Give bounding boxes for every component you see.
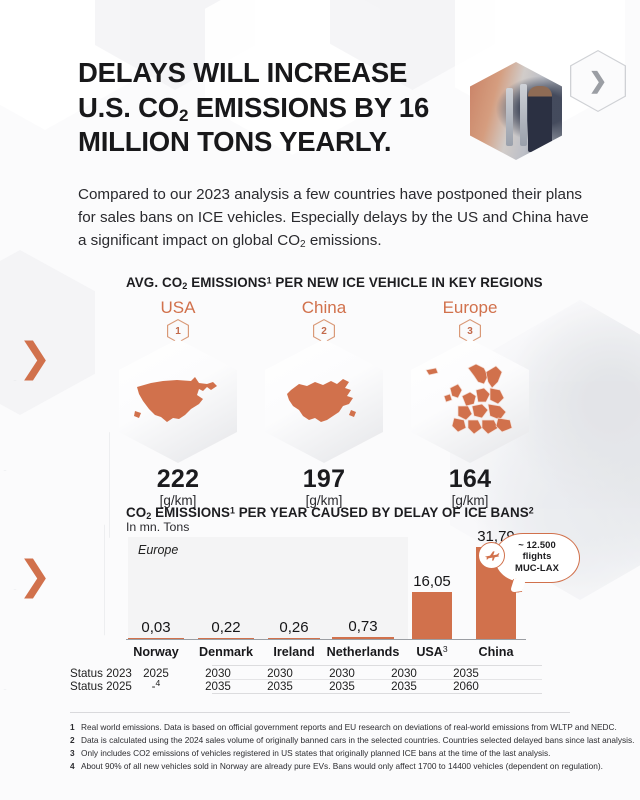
footnote-ref: 2 xyxy=(529,505,534,515)
hexagon-map-tile-europe xyxy=(411,339,529,463)
next-slide-button[interactable]: ❯ xyxy=(570,50,626,112)
intro-text-part2: emissions. xyxy=(306,232,382,249)
footnote-item: 1Real world emissions. Data is based on … xyxy=(70,722,636,733)
bar-norway xyxy=(128,638,184,640)
status-cell: 2030 xyxy=(187,667,249,680)
headline-line-2-a: U.S. CO xyxy=(78,92,179,123)
callout-line-3: MUC-LAX xyxy=(495,562,579,573)
status-table-row: Status 2025-420352035203520352060 xyxy=(70,680,540,693)
footnote-item: 4About 90% of all new vehicles sold in N… xyxy=(70,761,636,772)
status-cell: 2060 xyxy=(435,680,497,693)
footnote-number: 1 xyxy=(70,722,75,733)
region-card-europe: Europe 3 xyxy=(400,298,540,508)
footnote-text: About 90% of all new vehicles sold in No… xyxy=(81,761,603,771)
section-2-title: CO2 EMISSIONS1 PER YEAR CAUSED BY DELAY … xyxy=(126,505,546,520)
status-cell: 2035 xyxy=(373,680,435,693)
headline-line-3: MILLION TONS YEARLY. xyxy=(78,126,391,157)
co2-subscript: 2 xyxy=(179,105,188,124)
status-cell: 2035 xyxy=(249,680,311,693)
footnote-number: 2 xyxy=(70,735,75,746)
chart-x-axis xyxy=(126,639,526,640)
europe-map-icon xyxy=(424,362,516,440)
region-name: USA xyxy=(108,298,248,318)
bar-denmark xyxy=(198,638,254,640)
bar-value-label: 0,26 xyxy=(257,619,331,636)
headline-line-1: DELAYS WILL INCREASE xyxy=(78,57,407,88)
footnote-divider xyxy=(70,712,570,713)
footnote-text: Only includes CO2 emissions of vehicles … xyxy=(81,748,550,758)
region-value: 222 xyxy=(108,465,248,494)
edge-chevron-icon: ❯ xyxy=(18,338,52,378)
bar-value-label: 0,03 xyxy=(119,619,193,636)
footnote-text: Data is calculated using the 2024 sales … xyxy=(81,735,634,745)
footnote-item: 3Only includes CO2 emissions of vehicles… xyxy=(70,748,636,759)
status-cell: 2035 xyxy=(311,680,373,693)
region-badge-number: 1 xyxy=(175,326,181,337)
footnote-text: Real world emissions. Data is based on o… xyxy=(81,722,617,732)
section-1-title: AVG. CO2 EMISSIONS1 PER NEW ICE VEHICLE … xyxy=(126,275,556,290)
footnote-item: 2Data is calculated using the 2024 sales… xyxy=(70,735,636,746)
regions-row: USA 1 222 [g/km] China 2 xyxy=(108,298,548,488)
bg-hexagon-outline xyxy=(0,380,110,590)
s2-title-c: PER YEAR CAUSED BY DELAY OF ICE BANS xyxy=(235,505,529,520)
airplane-icon xyxy=(478,542,505,569)
s2-title-a: CO xyxy=(126,505,146,520)
table-rule xyxy=(212,665,542,666)
bar-value-label: 0,73 xyxy=(326,618,400,635)
status-cell: 2035 xyxy=(187,680,249,693)
region-value: 197 xyxy=(254,465,394,494)
status-cell: 2030 xyxy=(249,667,311,680)
edge-chevron-icon: ❯ xyxy=(18,556,52,596)
region-name: Europe xyxy=(400,298,540,318)
region-name: China xyxy=(254,298,394,318)
bar-usa xyxy=(412,592,452,639)
region-value: 164 xyxy=(400,465,540,494)
bar-chart: Europe 0,03Norway0,22Denmark0,26Ireland0… xyxy=(126,537,526,645)
china-map-icon xyxy=(281,370,367,432)
status-cell: 2030 xyxy=(311,667,373,680)
hexagon-map-tile-usa xyxy=(119,339,237,463)
bar-value-label: 16,05 xyxy=(395,573,469,590)
status-cell: -4 xyxy=(125,680,187,693)
infographic-page: DELAYS WILL INCREASE U.S. CO2 EMISSIONS … xyxy=(0,0,640,800)
region-badge-number: 3 xyxy=(467,326,473,337)
footnote-number: 4 xyxy=(70,761,75,772)
s1-title-a: AVG. CO xyxy=(126,275,182,290)
s1-title-b: EMISSIONS xyxy=(187,275,266,290)
section-2-subtitle: In mn. Tons xyxy=(126,520,189,534)
bar-ireland xyxy=(268,638,320,640)
smokestack-icon xyxy=(520,84,527,146)
hexagon-map-tile-china xyxy=(265,339,383,463)
chevron-right-icon: ❯ xyxy=(589,70,607,92)
status-table-row: Status 2023202520302030203020302035 xyxy=(70,667,540,680)
footnote-ref: 4 xyxy=(156,678,161,688)
status-cell: 2035 xyxy=(435,667,497,680)
intro-paragraph: Compared to our 2023 analysis a few coun… xyxy=(78,183,590,252)
bar-value-label: 0,22 xyxy=(189,619,263,636)
callout-line-2: flights xyxy=(495,550,579,561)
bar-netherlands xyxy=(332,637,394,639)
smokestack-icon xyxy=(506,88,513,146)
headline-line-2-b: EMISSIONS BY 16 xyxy=(188,92,429,123)
footnote-number: 3 xyxy=(70,748,75,759)
bg-hexagon xyxy=(0,250,95,415)
businessman-silhouette xyxy=(528,86,552,152)
page-title: DELAYS WILL INCREASE U.S. CO2 EMISSIONS … xyxy=(78,56,478,160)
status-table: Status 2023202520302030203020302035Statu… xyxy=(70,667,540,693)
status-rows: Status 2023202520302030203020302035Statu… xyxy=(70,667,540,693)
s1-title-c: PER NEW ICE VEHICLE IN KEY REGIONS xyxy=(272,275,543,290)
status-cell: 2030 xyxy=(373,667,435,680)
callout-bubble: ~ 12.500 flights MUC-LAX xyxy=(494,533,580,583)
region-badge-number: 2 xyxy=(321,326,327,337)
region-card-china: China 2 197 [g/km] xyxy=(254,298,394,508)
hero-photo-car-emissions xyxy=(470,62,562,160)
bg-hexagon-outline xyxy=(0,470,105,690)
usa-map-icon xyxy=(133,371,223,431)
s2-title-b: EMISSIONS xyxy=(151,505,230,520)
bar-category-label: China xyxy=(454,645,538,659)
europe-group-label: Europe xyxy=(138,543,178,557)
region-card-usa: USA 1 222 [g/km] xyxy=(108,298,248,508)
footnote-ref: 3 xyxy=(443,644,448,654)
footnotes-list: 1Real world emissions. Data is based on … xyxy=(70,722,636,774)
callout-line-1: ~ 12.500 xyxy=(495,539,579,550)
